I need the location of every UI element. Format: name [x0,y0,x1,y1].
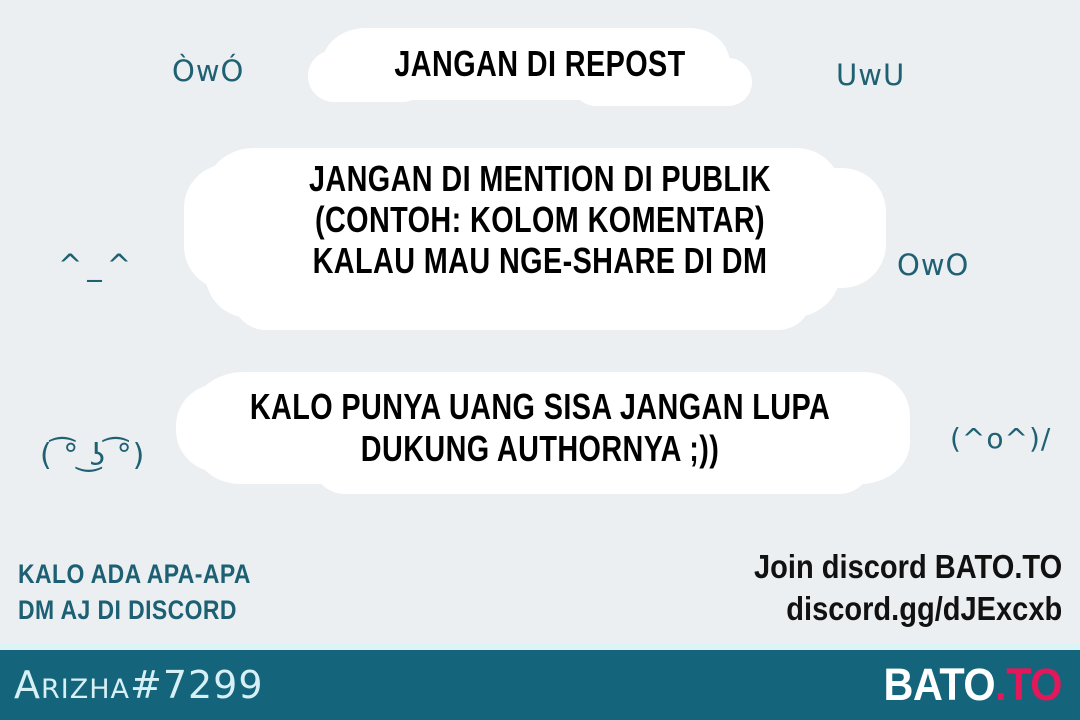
notice-line: DUKUNG AUTHORNYA ;)) [108,428,972,470]
footer-note-line: DM AJ DI DISCORD [18,592,251,628]
discord-invite-link[interactable]: discord.gg/dJExcxb [754,588,1062,630]
notice-line: KALAU MAU NGE-SHARE DI DM [108,240,972,281]
notice-line: (CONTOH: KOLOM KOMENTAR) [108,199,972,240]
notice-block-support-author: KALO PUNYA UANG SISA JANGAN LUPA DUKUNG … [108,386,972,470]
translator-credit: Arizha#7299 [14,662,264,708]
bottom-bar: Arizha#7299 BATO.TO [0,650,1080,720]
footer-note-discord: Join discord BATO.TO discord.gg/dJExcxb [754,546,1062,630]
notice-line: JANGAN DI MENTION DI PUBLIK [108,158,972,199]
bato-logo-primary: BATO [883,659,995,710]
notice-block-mention: JANGAN DI MENTION DI PUBLIK (CONTOH: KOL… [108,158,972,281]
bato-logo[interactable]: BATO.TO [883,659,1062,711]
notice-line: KALO PUNYA UANG SISA JANGAN LUPA [108,386,972,428]
notice-line-repost: JANGAN DI REPOST [108,44,972,84]
scanlation-credits-page: JANGAN DI REPOST JANGAN DI MENTION DI PU… [0,0,1080,720]
footer-note-line: KALO ADA APA-APA [18,556,251,592]
discord-invite-heading: Join discord BATO.TO [754,546,1062,588]
bato-logo-suffix: .TO [995,659,1062,710]
footer-note-contact: KALO ADA APA-APA DM AJ DI DISCORD [18,556,251,628]
